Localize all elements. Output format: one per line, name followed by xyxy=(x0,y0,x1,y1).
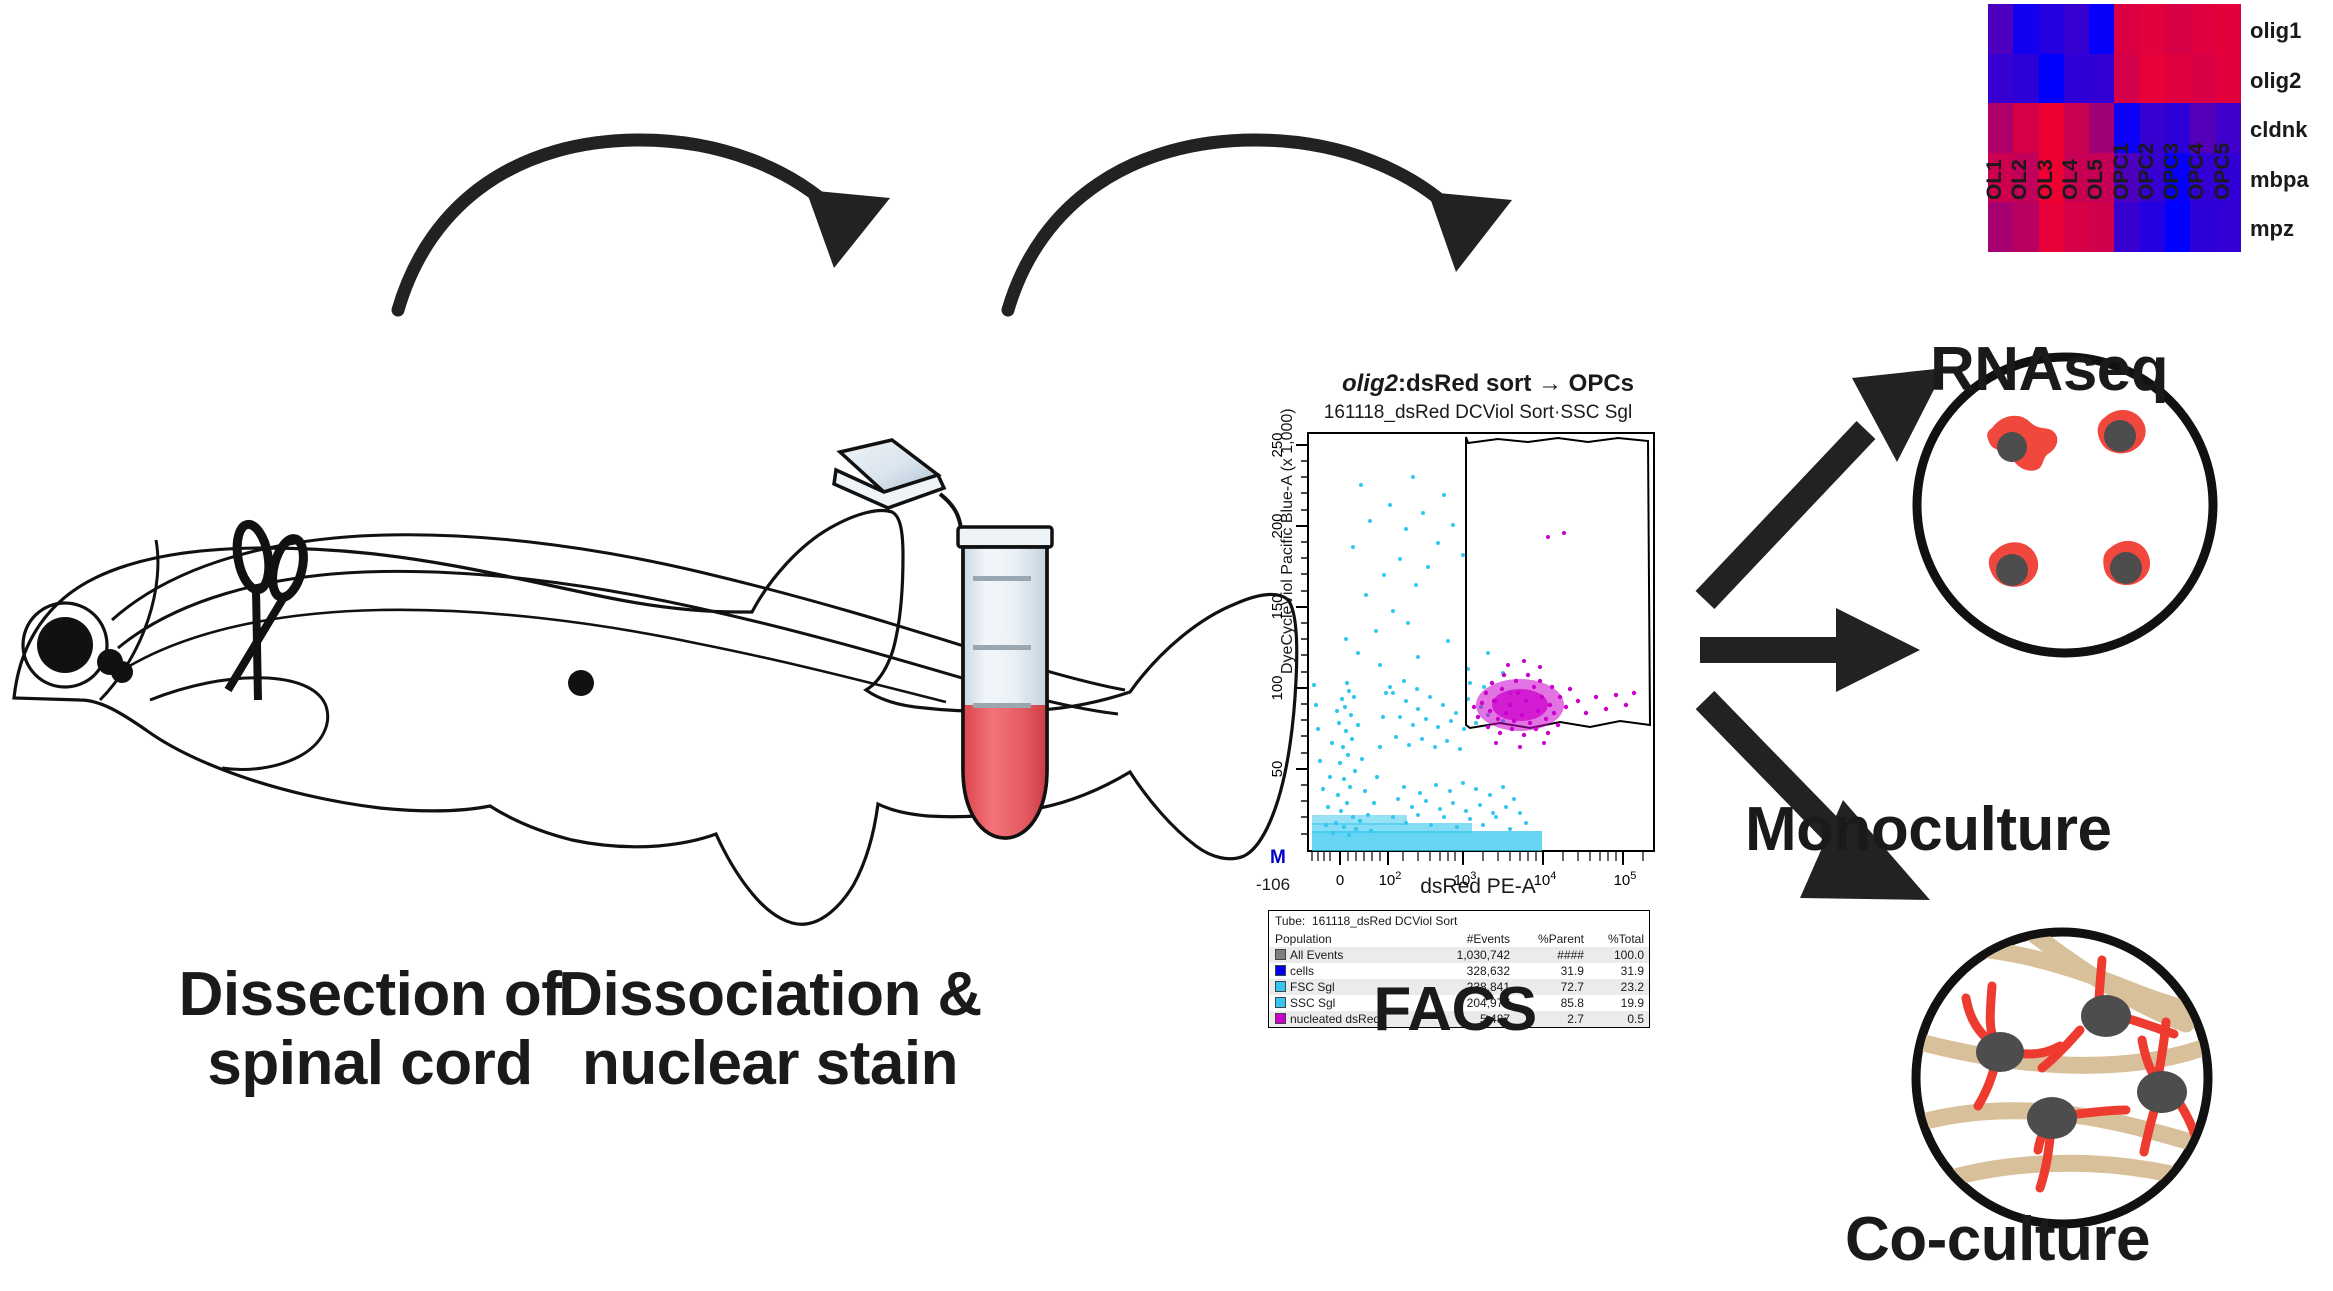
facs-plot-subtitle: 161118_dsRed DCViol Sort·SSC Sgl xyxy=(1288,402,1668,424)
caption-rnaseq: RNAseq xyxy=(1930,335,2330,404)
heatmap-cell xyxy=(2013,4,2038,54)
heatmap-cell xyxy=(2140,4,2165,54)
heatmap-column-label: OPC3 xyxy=(2160,143,2184,200)
svg-text:104: 104 xyxy=(1534,870,1557,889)
heatmap-row-label: mpz xyxy=(2250,216,2294,242)
svg-text:0: 0 xyxy=(1336,872,1344,889)
facs-plot-title: olig2:dsRed sort → OPCs xyxy=(1308,370,1668,398)
heatmap-cell xyxy=(2039,103,2064,153)
stats-events: 1,030,742 xyxy=(1431,947,1515,963)
facs-stats-tube-name: 161118_dsRed DCViol Sort xyxy=(1312,914,1457,928)
heatmap-cell xyxy=(2216,202,2241,252)
heatmap-cell xyxy=(2039,202,2064,252)
caption-dissociation-line1: Dissociation & xyxy=(420,960,1120,1029)
caption-dissociation-line2: nuclear stain xyxy=(420,1029,1120,1098)
heatmap-column-label: OL5 xyxy=(2084,159,2108,200)
facs-stats-tube-label: Tube: xyxy=(1275,914,1305,928)
heatmap-column-label: OL1 xyxy=(1983,159,2007,200)
svg-text:100: 100 xyxy=(1269,675,1286,700)
heatmap-column-label: OPC4 xyxy=(2185,143,2209,200)
heatmap-cell xyxy=(1988,103,2013,153)
table-row: All Events1,030,742####100.0 xyxy=(1269,947,1649,963)
svg-text:102: 102 xyxy=(1379,870,1402,889)
tube-graduation-2 xyxy=(973,645,1031,650)
cord-marker-posterior xyxy=(568,670,594,696)
tube-graduation-1 xyxy=(973,576,1031,581)
svg-text:103: 103 xyxy=(1454,870,1477,889)
col-population: Population xyxy=(1269,931,1431,947)
stats-parent: #### xyxy=(1515,947,1589,963)
heatmap-cell xyxy=(2013,103,2038,153)
heatmap-cell xyxy=(2089,54,2114,104)
tube-liquid xyxy=(960,705,1052,845)
heatmap-grid xyxy=(1988,4,2241,252)
heatmap-cell xyxy=(2064,4,2089,54)
caption-coculture: Co-culture xyxy=(1845,1205,2333,1274)
heatmap-cell xyxy=(2064,54,2089,104)
heatmap-cell xyxy=(2190,202,2215,252)
heatmap-cell xyxy=(2190,54,2215,104)
eppendorf-tube-illustration xyxy=(834,440,1052,845)
heatmap-cell xyxy=(2114,202,2139,252)
facs-scatter-plot: 250 200 150 100 50 xyxy=(1248,425,1668,945)
heatmap-cell xyxy=(1988,202,2013,252)
heatmap-cell xyxy=(2165,4,2190,54)
heatmap-cell xyxy=(2064,202,2089,252)
heatmap-cell xyxy=(2216,4,2241,54)
curved-arrow-tube-to-facs xyxy=(1008,140,1512,310)
col-parent: %Parent xyxy=(1515,931,1589,947)
heatmap-column-label: OL2 xyxy=(2008,159,2032,200)
heatmap-cell xyxy=(2039,4,2064,54)
facs-title-rest: :dsRed sort → OPCs xyxy=(1398,370,1634,397)
heatmap-cell xyxy=(2140,54,2165,104)
arrow-to-monoculture xyxy=(1700,608,1920,692)
facs-x-ticks xyxy=(1340,851,1623,865)
curved-arrow-fish-to-tube xyxy=(398,140,890,310)
arrow-to-rnaseq xyxy=(1705,368,1945,600)
svg-text:250: 250 xyxy=(1269,432,1286,457)
heatmap-cell xyxy=(2165,202,2190,252)
heatmap-cell xyxy=(2013,54,2038,104)
stats-total: 100.0 xyxy=(1589,947,1649,963)
coculture-nucleus-4 xyxy=(2137,1071,2187,1113)
heatmap-column-label: OPC1 xyxy=(2110,143,2134,200)
svg-text:200: 200 xyxy=(1269,513,1286,538)
heatmap-row-label: olig2 xyxy=(2250,68,2301,94)
coculture-nucleus-1 xyxy=(1976,1032,2024,1072)
tube-graduation-3 xyxy=(973,703,1031,708)
heatmap-cell xyxy=(2089,202,2114,252)
facs-title-gene: olig2 xyxy=(1342,370,1398,397)
facs-x-tick-labels: 0 102 103 104 105 xyxy=(1336,870,1637,889)
stats-population: All Events xyxy=(1269,947,1431,963)
cord-marker-anterior2 xyxy=(111,661,133,683)
svg-text:50: 50 xyxy=(1269,761,1286,778)
heatmap-column-label: OPC2 xyxy=(2135,143,2159,200)
svg-text:105: 105 xyxy=(1614,870,1637,889)
heatmap-row-label: cldnk xyxy=(2250,117,2307,143)
heatmap-cell xyxy=(2013,202,2038,252)
heatmap-cell xyxy=(1988,54,2013,104)
heatmap-cell xyxy=(2039,54,2064,104)
table-header-row: Population #Events %Parent %Total xyxy=(1269,931,1649,947)
heatmap-cell xyxy=(1988,4,2013,54)
heatmap-cell xyxy=(2216,54,2241,104)
caption-dissociation: Dissociation & nuclear stain xyxy=(420,960,1120,1099)
col-total: %Total xyxy=(1589,931,1649,947)
svg-text:150: 150 xyxy=(1269,594,1286,619)
fish-eye-pupil xyxy=(37,617,93,673)
fish-body-outline xyxy=(14,511,1297,925)
heatmap-cell xyxy=(2190,4,2215,54)
heatmap-column-label: OL4 xyxy=(2059,159,2083,200)
zebrafish-illustration xyxy=(14,511,1297,925)
heatmap-row-label: olig1 xyxy=(2250,18,2301,44)
coculture-nucleus-3 xyxy=(2027,1097,2077,1139)
facs-y-tick-labels: 250 200 150 100 50 xyxy=(1269,432,1286,777)
heatmap-cell xyxy=(2140,202,2165,252)
heatmap-cell xyxy=(2165,54,2190,104)
fish-pectoral-fin xyxy=(150,678,328,770)
population-color-swatch xyxy=(1275,949,1286,960)
coculture-dish xyxy=(1912,930,2262,1224)
heatmap-cell xyxy=(2064,103,2089,153)
caption-facs: FACS xyxy=(1255,975,1655,1044)
heatmap-cell xyxy=(2114,54,2139,104)
coculture-nucleus-2 xyxy=(2081,995,2131,1037)
facs-stats-tube-row: Tube: 161118_dsRed DCViol Sort xyxy=(1269,911,1649,931)
heatmap-column-label: OPC5 xyxy=(2211,143,2235,200)
heatmap-row-label: mbpa xyxy=(2250,167,2309,193)
heatmap-cell xyxy=(2089,4,2114,54)
col-events: #Events xyxy=(1431,931,1515,947)
heatmap-cell xyxy=(2114,4,2139,54)
rnaseq-heatmap: olig1olig2cldnkmbpampz OL1OL2OL3OL4OL5OP… xyxy=(1988,4,2333,324)
caption-monoculture: Monoculture xyxy=(1745,795,2333,864)
tube-collar xyxy=(958,527,1052,547)
heatmap-column-label: OL3 xyxy=(2034,159,2058,200)
facs-plot-panel: olig2:dsRed sort → OPCs 161118_dsRed DCV… xyxy=(1248,370,1668,970)
